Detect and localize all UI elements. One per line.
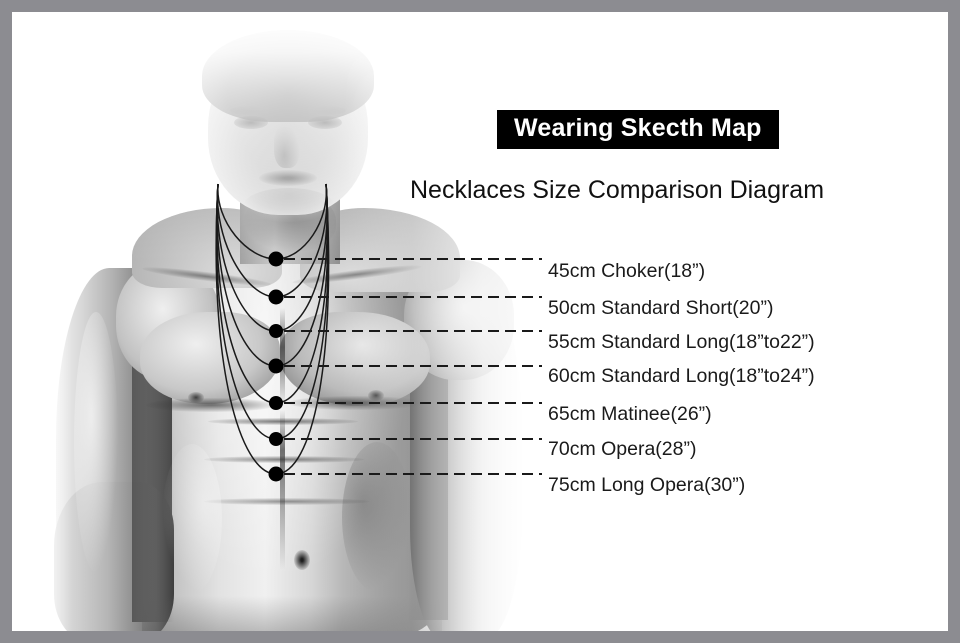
- dot-60cm: [269, 359, 284, 374]
- diagram-canvas: Wearing Skecth Map Necklaces Size Compar…: [12, 12, 948, 631]
- dot-70cm: [269, 432, 283, 446]
- dot-50cm: [269, 290, 284, 305]
- dot-65cm: [269, 396, 283, 410]
- size-label-65cm: 65cm Matinee(26”): [548, 405, 712, 425]
- dot-55cm: [269, 324, 283, 338]
- chain-60cm: [217, 184, 327, 366]
- page-title: Wearing Skecth Map: [514, 116, 762, 141]
- dot-75cm: [269, 467, 284, 482]
- size-label-70cm: 70cm Opera(28”): [548, 440, 696, 460]
- dot-45cm: [269, 252, 284, 267]
- size-label-45cm: 45cm Choker(18”): [548, 262, 705, 282]
- necklace-overlay: [12, 12, 948, 631]
- leader-lines: [284, 259, 542, 474]
- chain-50cm: [217, 184, 326, 297]
- necklace-pendant-dots: [269, 252, 284, 482]
- title-banner: Wearing Skecth Map: [497, 110, 779, 149]
- image-frame: Wearing Skecth Map Necklaces Size Compar…: [0, 0, 960, 643]
- chain-45cm: [218, 184, 327, 259]
- subtitle: Necklaces Size Comparison Diagram: [410, 178, 824, 203]
- size-label-55cm: 55cm Standard Long(18”to22”): [548, 333, 815, 353]
- size-label-75cm: 75cm Long Opera(30”): [548, 476, 745, 496]
- size-label-50cm: 50cm Standard Short(20”): [548, 299, 773, 319]
- size-label-60cm: 60cm Standard Long(18”to24”): [548, 367, 815, 387]
